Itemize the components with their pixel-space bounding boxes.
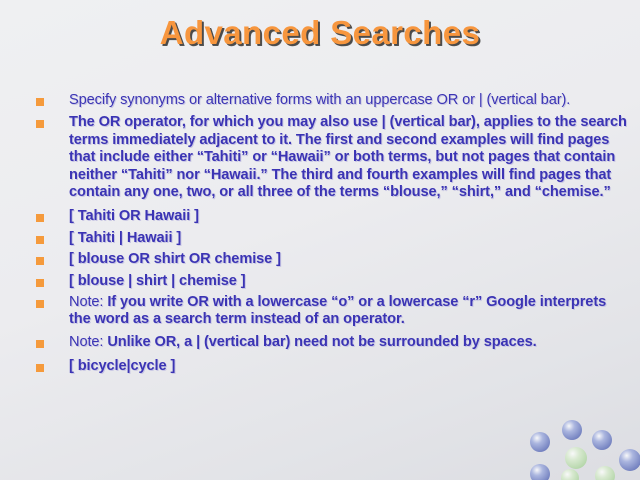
page-title: Advanced Searches xyxy=(160,14,480,52)
bubble-icon xyxy=(595,466,615,480)
bullet-example-blouse-pipe-shirt-pipe-chemise: [ blouse | shirt | chemise ] xyxy=(69,273,628,290)
bubble-icon xyxy=(562,420,582,440)
square-bullet-icon xyxy=(36,279,44,287)
list-item: [ bicycle|cycle ] xyxy=(36,358,628,375)
bubble-cluster-icon xyxy=(510,416,640,480)
square-bullet-icon xyxy=(36,120,44,128)
square-bullet-icon xyxy=(36,257,44,265)
note-body: If you write OR with a lowercase “o” or … xyxy=(69,294,606,327)
list-item: [ blouse | shirt | chemise ] xyxy=(36,273,628,290)
note-body: Unlike OR, a | (vertical bar) need not b… xyxy=(107,334,536,350)
slide-canvas: Advanced Searches Specify synonyms or al… xyxy=(0,0,640,480)
square-bullet-icon xyxy=(36,98,44,106)
bullet-example-blouse-or-shirt-or-chemise: [ blouse OR shirt OR chemise ] xyxy=(69,251,628,268)
bullet-list: Specify synonyms or alternative forms wi… xyxy=(36,92,628,381)
square-bullet-icon xyxy=(36,214,44,222)
bubble-icon xyxy=(592,430,612,450)
square-bullet-icon xyxy=(36,236,44,244)
bullet-note-spaces: Note: Unlike OR, a | (vertical bar) need… xyxy=(69,334,628,351)
list-item: [ Tahiti | Hawaii ] xyxy=(36,230,628,247)
bubble-icon xyxy=(530,464,550,480)
bubble-icon xyxy=(619,449,640,471)
list-item: Specify synonyms or alternative forms wi… xyxy=(36,92,628,109)
title-container: Advanced Searches xyxy=(0,14,640,52)
bullet-specify-synonyms: Specify synonyms or alternative forms wi… xyxy=(69,92,628,109)
bullet-example-tahiti-or-hawaii: [ Tahiti OR Hawaii ] xyxy=(69,208,628,225)
square-bullet-icon xyxy=(36,300,44,308)
list-item: The OR operator, for which you may also … xyxy=(36,114,628,201)
square-bullet-icon xyxy=(36,364,44,372)
list-item: [ Tahiti OR Hawaii ] xyxy=(36,208,628,225)
note-label: Note: xyxy=(69,294,107,310)
square-bullet-icon xyxy=(36,340,44,348)
bullet-note-lowercase: Note: If you write OR with a lowercase “… xyxy=(69,294,628,329)
note-label: Note: xyxy=(69,334,107,350)
bubble-icon xyxy=(565,447,587,469)
bullet-example-tahiti-pipe-hawaii: [ Tahiti | Hawaii ] xyxy=(69,230,628,247)
list-item: [ blouse OR shirt OR chemise ] xyxy=(36,251,628,268)
bullet-example-bicycle-cycle: [ bicycle|cycle ] xyxy=(69,358,628,375)
list-item: Note: If you write OR with a lowercase “… xyxy=(36,294,628,329)
bullet-or-operator: The OR operator, for which you may also … xyxy=(69,114,628,201)
list-item: Note: Unlike OR, a | (vertical bar) need… xyxy=(36,334,628,351)
bubble-icon xyxy=(561,469,579,480)
bubble-icon xyxy=(530,432,550,452)
